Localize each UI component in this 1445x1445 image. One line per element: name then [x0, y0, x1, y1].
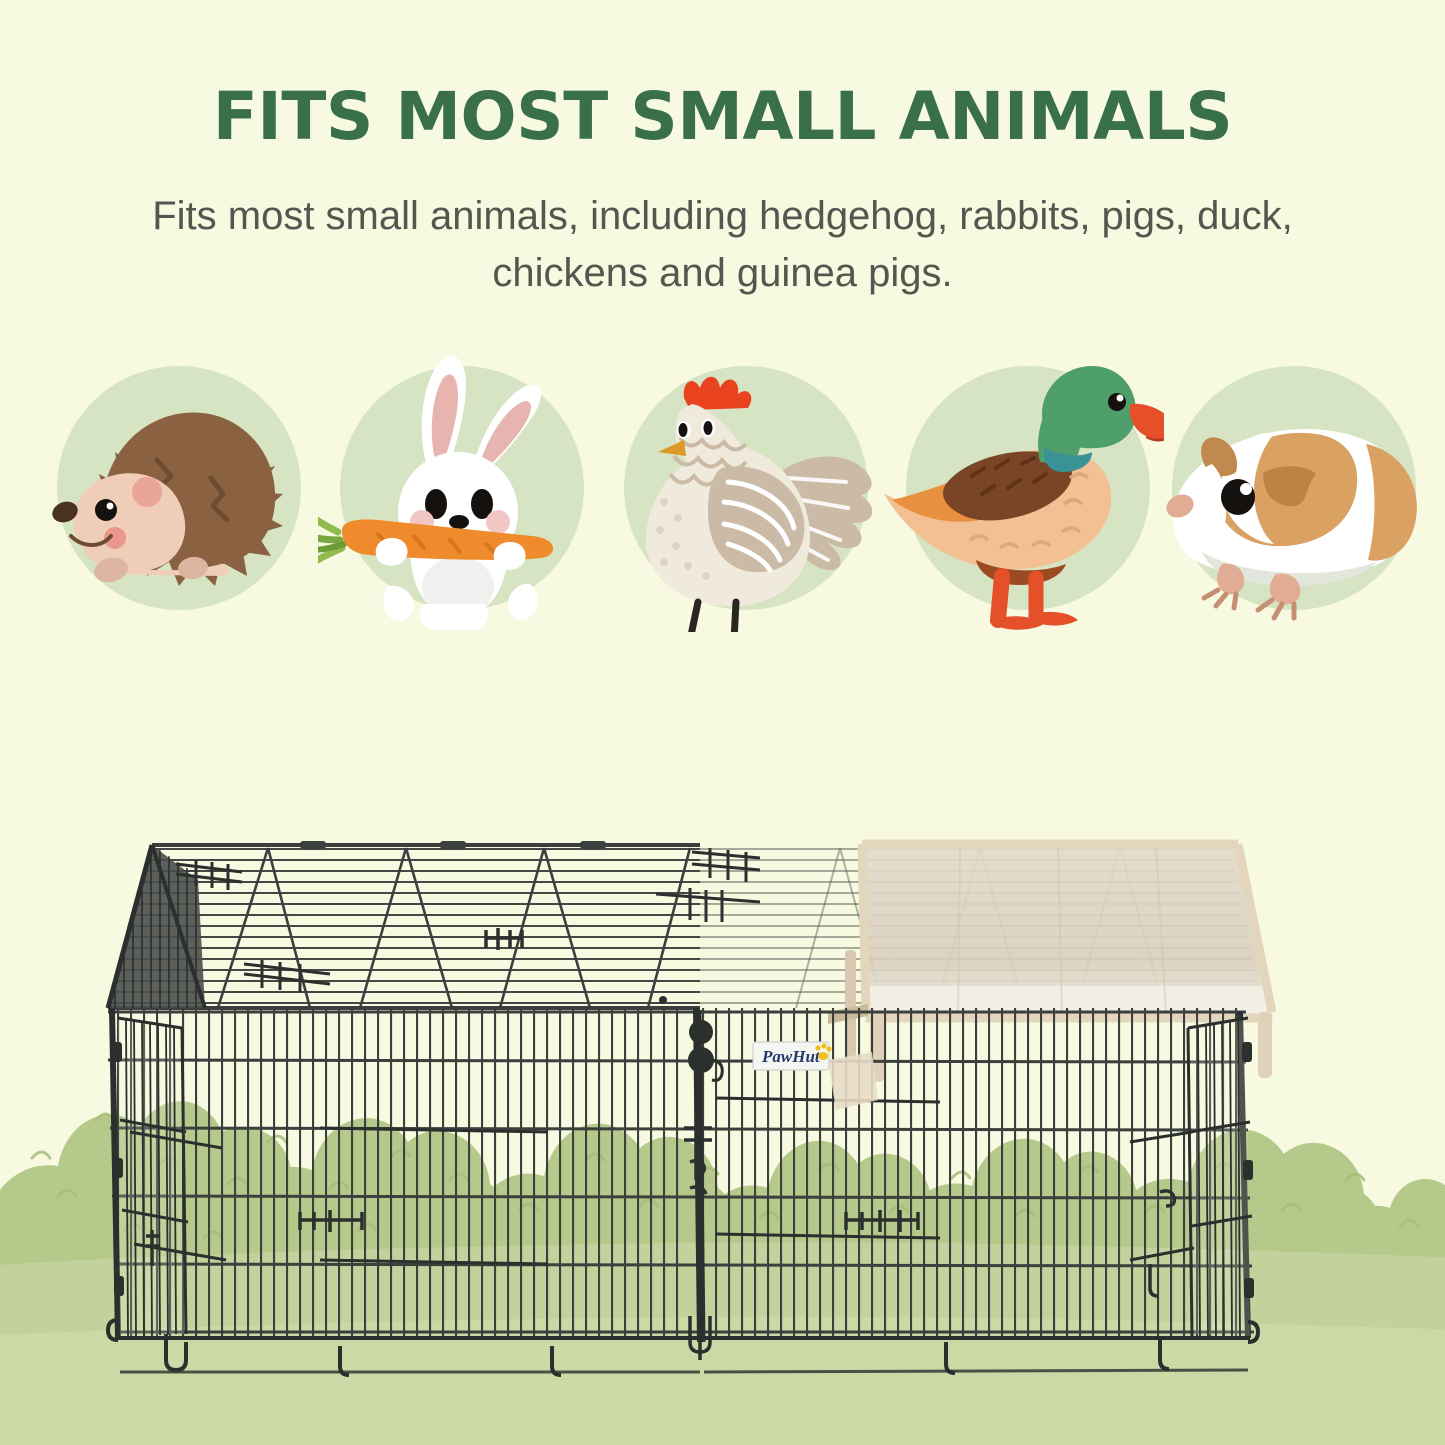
nesting-ramp	[828, 1052, 878, 1110]
animal-icon-chicken	[602, 352, 882, 632]
left-wall-mesh	[108, 1008, 688, 1338]
product-scene: PawHut	[0, 760, 1445, 1445]
roof-rivet	[659, 996, 667, 1004]
guinea-pig-icon	[1150, 352, 1430, 632]
playpen-illustration: PawHut	[0, 760, 1445, 1445]
page-subtitle: Fits most small animals, including hedge…	[108, 188, 1338, 302]
chicken-icon	[602, 352, 882, 632]
bottom-rail-front-right	[704, 1370, 1248, 1372]
animal-icon-hedgehog	[35, 352, 315, 632]
rabbit-icon	[318, 352, 598, 632]
duck-icon	[884, 352, 1164, 632]
hedgehog-icon	[35, 352, 315, 632]
animal-icon-guinea-pig	[1150, 352, 1430, 632]
animal-icon-rabbit	[318, 352, 598, 632]
center-hinge-lower[interactable]	[688, 1047, 714, 1073]
page-title: FITS MOST SMALL ANIMALS	[0, 78, 1445, 155]
animal-icon-duck	[884, 352, 1164, 632]
center-hinge-upper[interactable]	[689, 1020, 713, 1044]
product-infographic: FITS MOST SMALL ANIMALS Fits most small …	[0, 0, 1445, 1445]
brand-label-text: PawHut	[761, 1047, 821, 1066]
canopy-post-right	[1258, 1012, 1272, 1078]
brand-label: PawHut	[753, 1042, 832, 1070]
animal-icon-row	[0, 352, 1445, 632]
